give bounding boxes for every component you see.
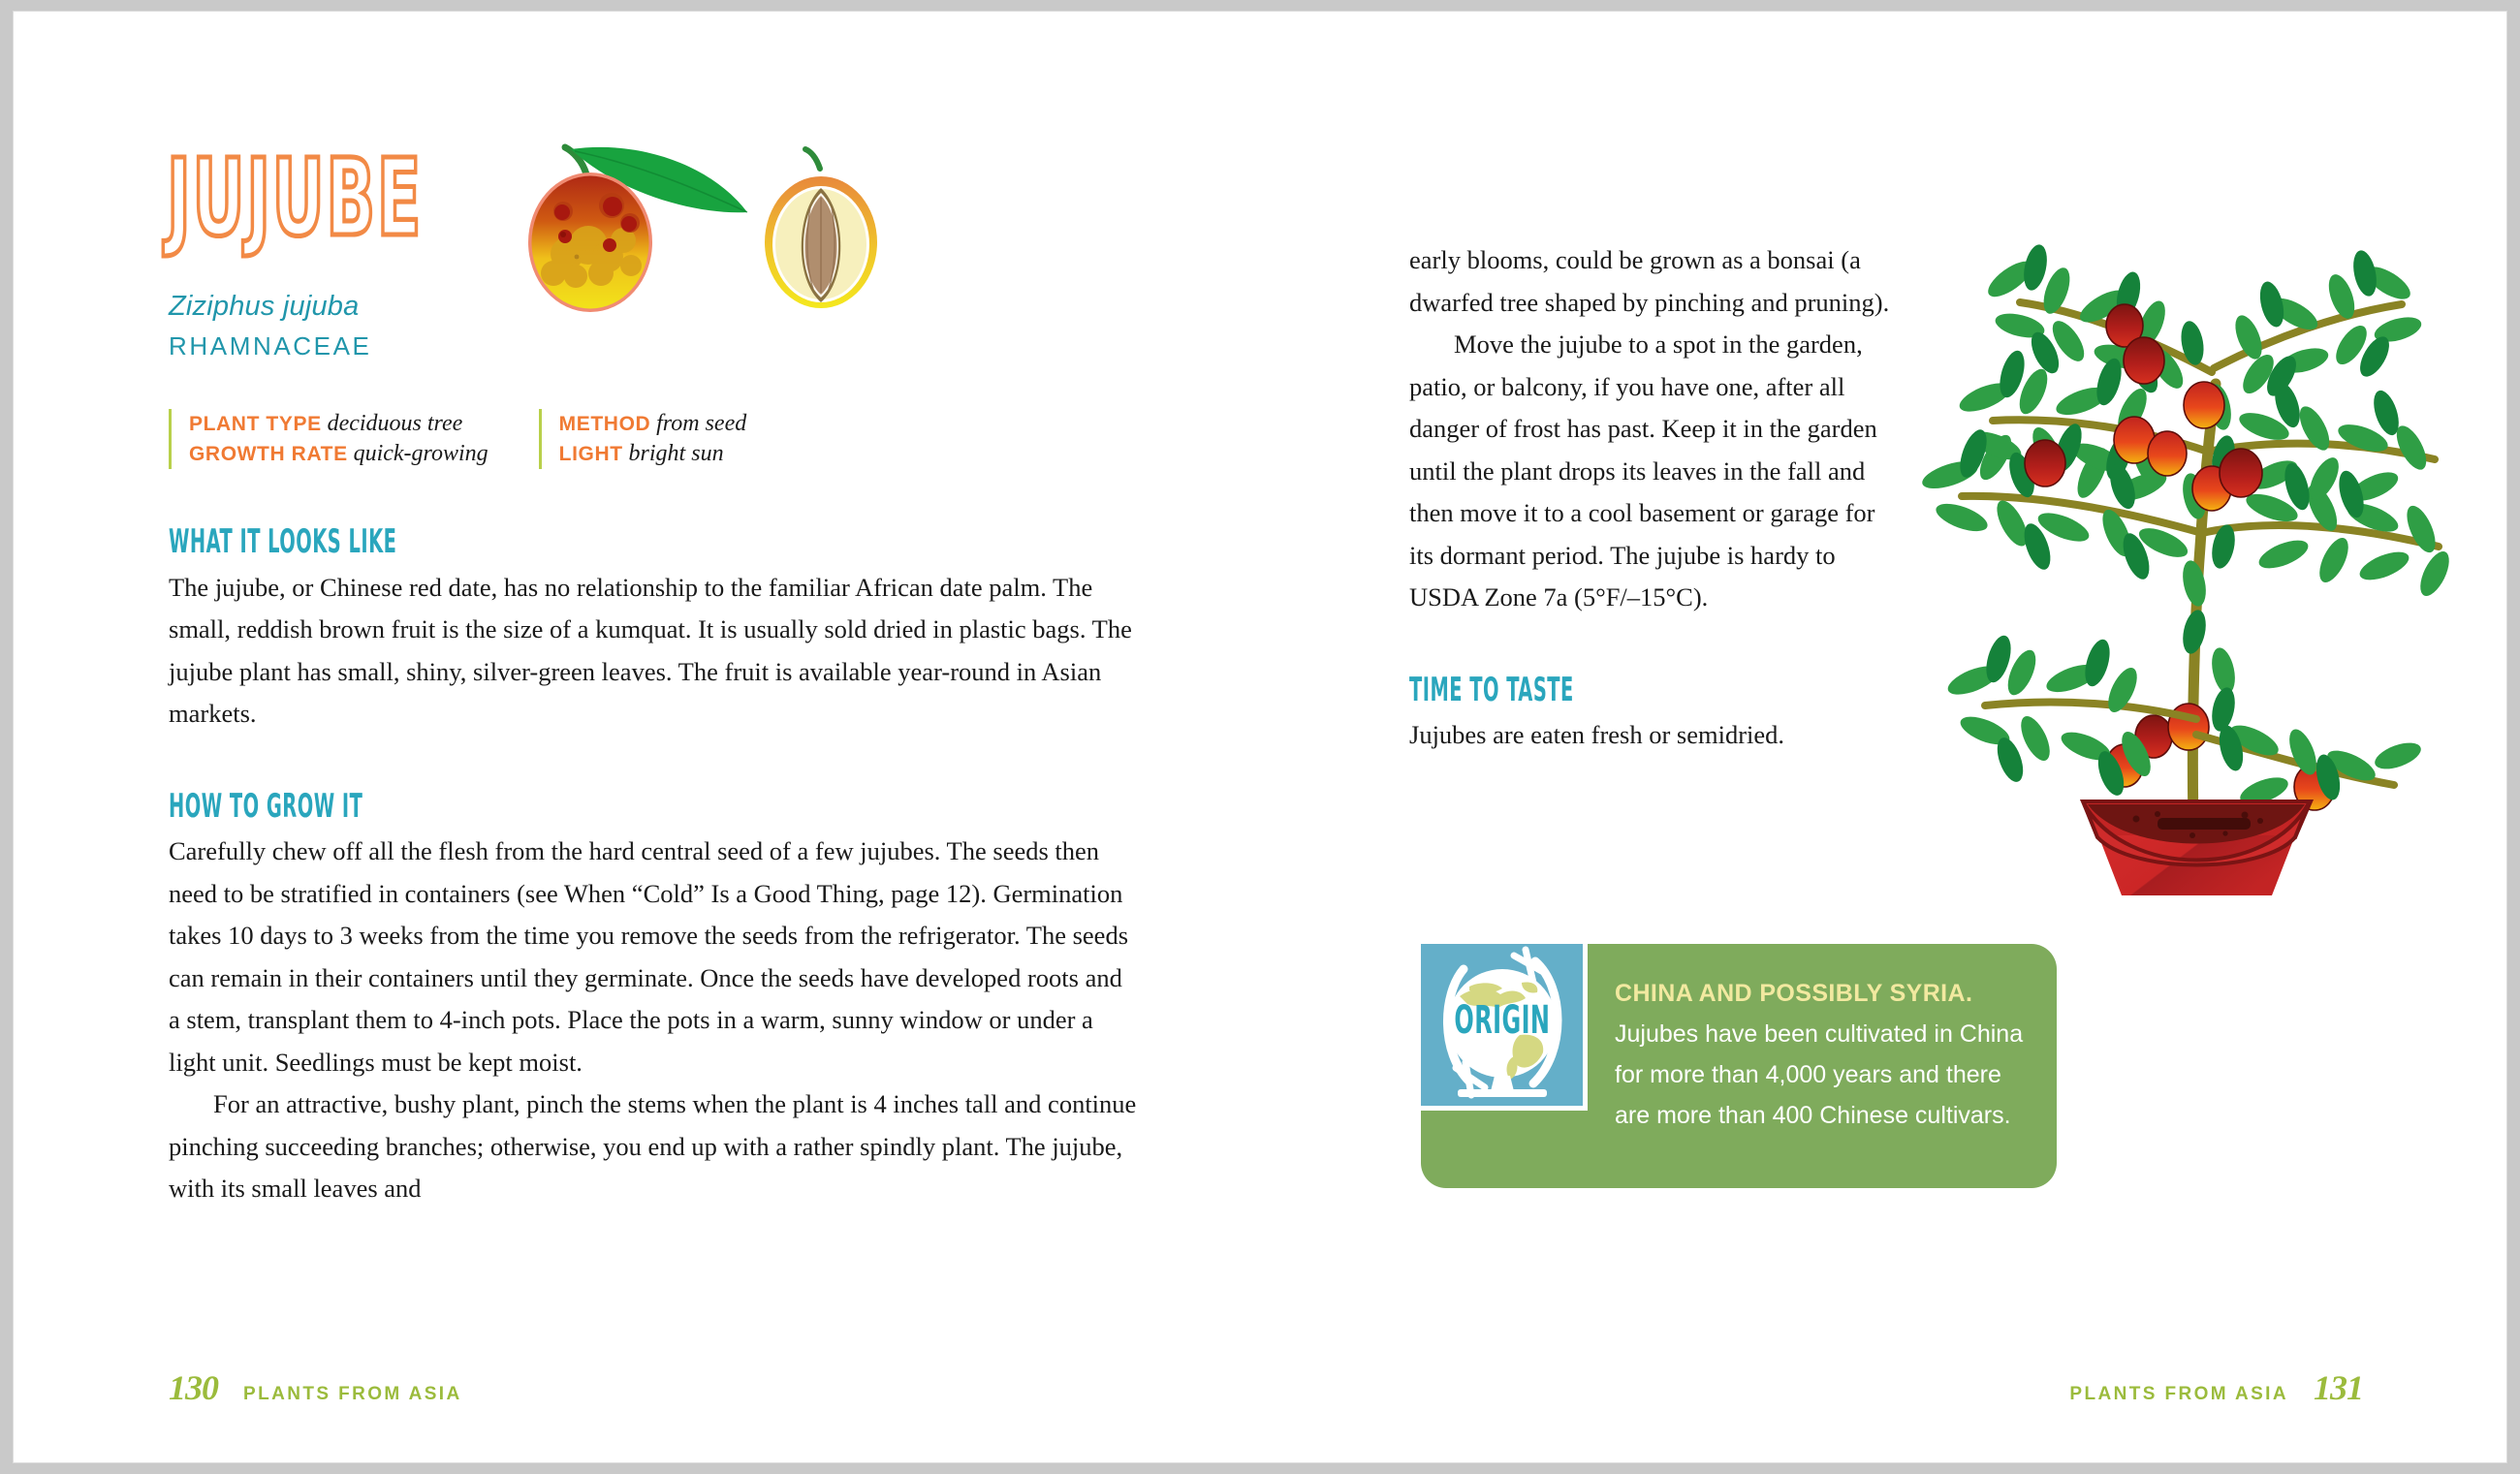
paragraph-how-to-grow-2: For an attractive, bushy plant, pinch th… — [169, 1083, 1138, 1210]
page-number-left: 130 — [169, 1367, 218, 1408]
paragraph-how-to-grow-3: Move the jujube to a spot in the garden,… — [1409, 324, 1894, 619]
origin-icon-label: ORIGIN — [1454, 998, 1550, 1043]
scientific-name: Ziziphus jujuba — [169, 291, 359, 323]
fact-key-method: METHOD — [559, 413, 651, 435]
footer-left: 130 PLANTS FROM ASIA — [169, 1367, 462, 1408]
page-title: JUJUBE — [167, 145, 423, 252]
fact-row: METHOD from seed — [559, 409, 747, 439]
fact-row: PLANT TYPE deciduous tree — [189, 409, 488, 439]
section-heading-what-it-looks-like: WHAT IT LOOKS LIKE — [169, 516, 944, 569]
fact-value-plant-type: deciduous tree — [328, 411, 463, 436]
fact-row: GROWTH RATE quick-growing — [189, 439, 488, 469]
right-text-column: early blooms, could be grown as a bonsai… — [1409, 239, 1894, 757]
fact-value-growth-rate: quick-growing — [354, 441, 488, 466]
fact-column-1: PLANT TYPE deciduous tree GROWTH RATE qu… — [169, 409, 488, 469]
footer-right: PLANTS FROM ASIA 131 — [2069, 1367, 2363, 1408]
fact-key-growth-rate: GROWTH RATE — [189, 443, 348, 465]
fact-key-plant-type: PLANT TYPE — [189, 413, 322, 435]
footer-label-left: PLANTS FROM ASIA — [243, 1384, 462, 1405]
section-heading-how-to-grow-it: HOW TO GROW IT — [169, 780, 944, 833]
section-heading-time-to-taste: TIME TO TASTE — [1409, 664, 1797, 717]
fact-column-2: METHOD from seed LIGHT bright sun — [539, 409, 747, 469]
fact-value-method: from seed — [656, 411, 746, 436]
origin-lead: CHINA AND POSSIBLY SYRIA. — [1615, 980, 1972, 1007]
fact-key-light: LIGHT — [559, 443, 623, 465]
origin-body: Jujubes have been cultivated in China fo… — [1615, 1020, 2023, 1129]
paragraph-how-to-grow-1: Carefully chew off all the flesh from th… — [169, 831, 1138, 1083]
plant-family: RHAMNACEAE — [169, 331, 371, 361]
fact-value-light: bright sun — [629, 441, 724, 466]
paragraph-what-it-looks-like: The jujube, or Chinese red date, has no … — [169, 567, 1138, 736]
origin-globe-icon: ORIGIN — [1421, 944, 1588, 1111]
book-spread: JUJUBE Ziziphus jujuba RHAMNACEAE — [14, 12, 2506, 1462]
page-number-right: 131 — [2314, 1367, 2363, 1408]
jujube-tree-illustration — [1904, 167, 2504, 903]
paragraph-continuation: early blooms, could be grown as a bonsai… — [1409, 239, 1894, 324]
jujube-fruit-illustration — [503, 118, 910, 361]
flower-pot — [2083, 801, 2311, 895]
footer-label-right: PLANTS FROM ASIA — [2069, 1384, 2288, 1405]
paragraph-time-to-taste: Jujubes are eaten fresh or semidried. — [1409, 714, 1894, 757]
fact-row: LIGHT bright sun — [559, 439, 747, 469]
left-text-column: WHAT IT LOOKS LIKE The jujube, or Chines… — [169, 516, 1138, 1210]
plant-facts: PLANT TYPE deciduous tree GROWTH RATE qu… — [169, 409, 866, 469]
origin-callout-text: CHINA AND POSSIBLY SYRIA. Jujubes have b… — [1615, 973, 2039, 1136]
